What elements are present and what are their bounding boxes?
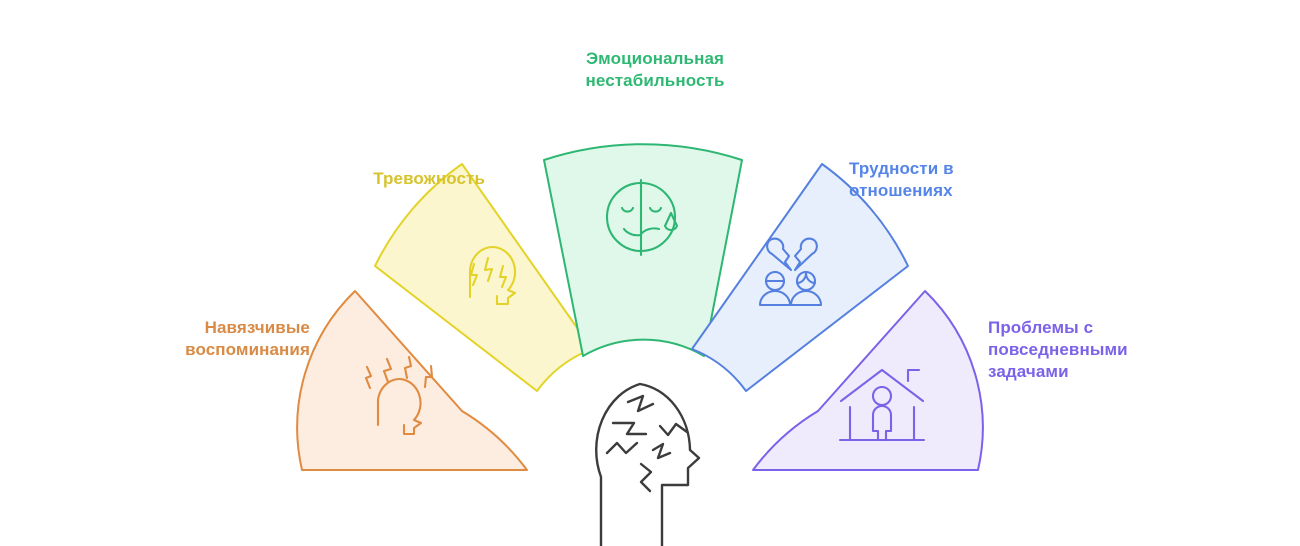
- label-intrusive: Навязчивые воспоминания: [110, 317, 310, 361]
- stressed-head-icon: [596, 384, 699, 546]
- label-emotional: Эмоциональная нестабильность: [540, 48, 770, 92]
- label-relations: Трудности в отношениях: [849, 158, 1049, 202]
- label-daily: Проблемы с повседневными задачами: [988, 317, 1203, 383]
- label-anxiety: Тревожность: [235, 168, 485, 190]
